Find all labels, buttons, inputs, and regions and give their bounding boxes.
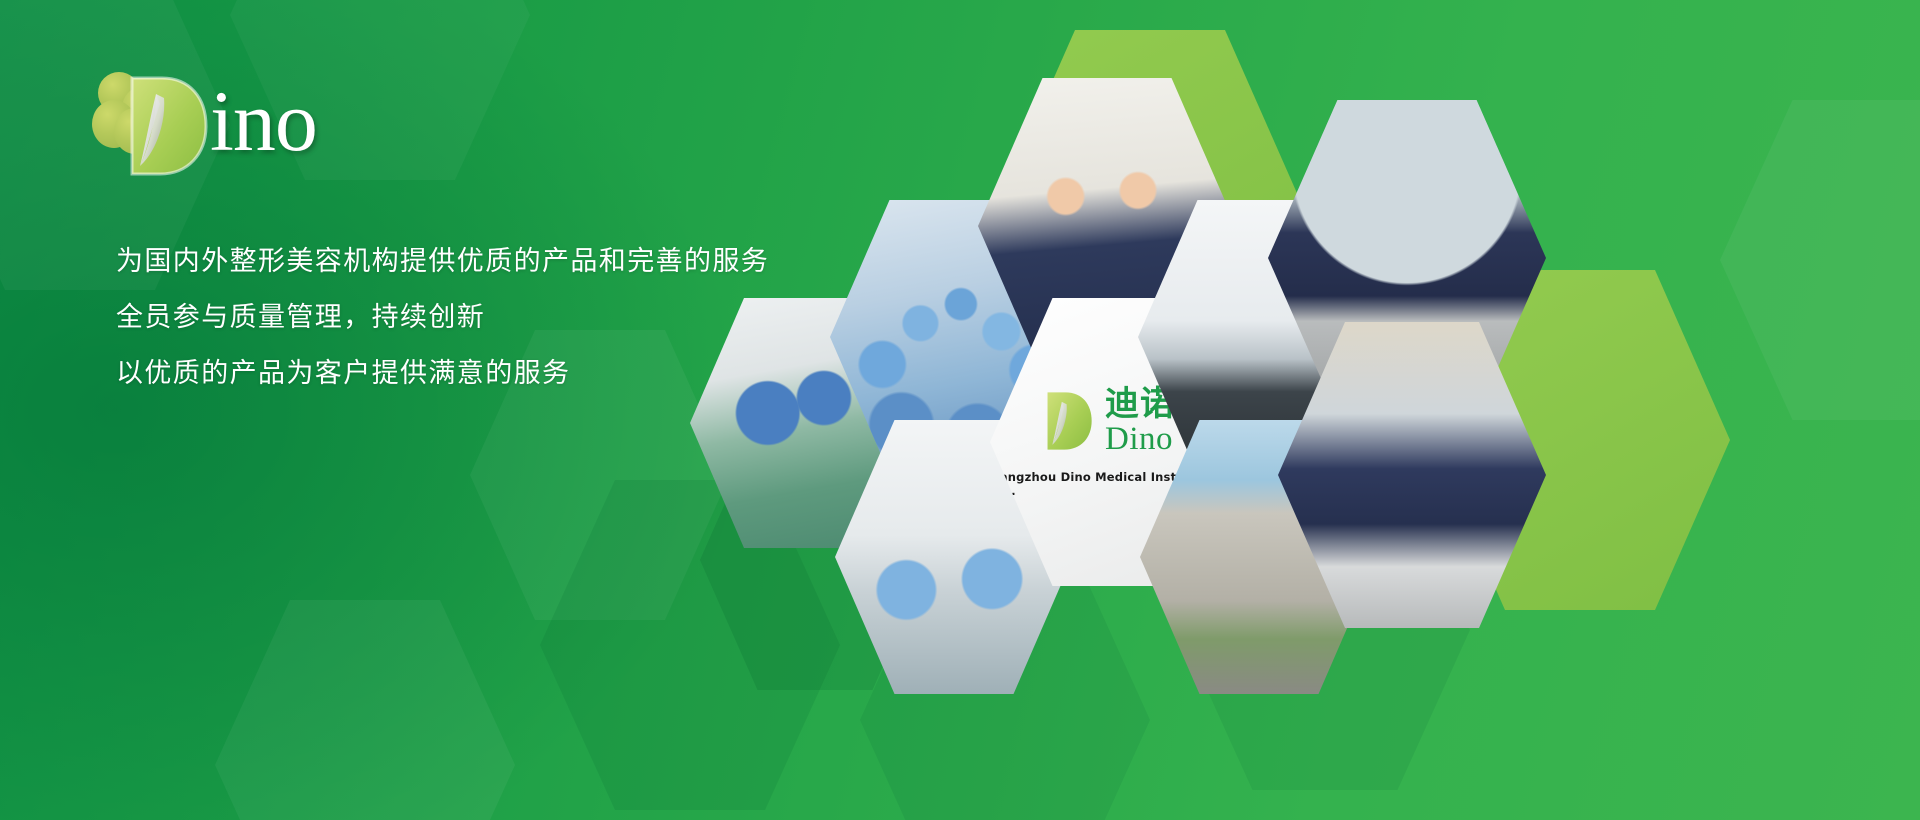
hexagon-photo-cluster: 迪诺® Dino Hangzhou Dino Medical Instrumen… [660, 90, 1920, 730]
hero-banner: ino 为国内外整形美容机构提供优质的产品和完善的服务 全员参与质量管理，持续创… [0, 0, 1920, 820]
dino-leaf-mark-icon [126, 74, 210, 178]
bg-hex-bottom-left-dark [215, 600, 515, 820]
brand-wordmark: ino [210, 78, 317, 164]
brand-logo[interactable]: ino [92, 68, 392, 178]
badge-name-en: Dino [1105, 423, 1187, 456]
dino-leaf-mark-icon [1043, 390, 1095, 452]
